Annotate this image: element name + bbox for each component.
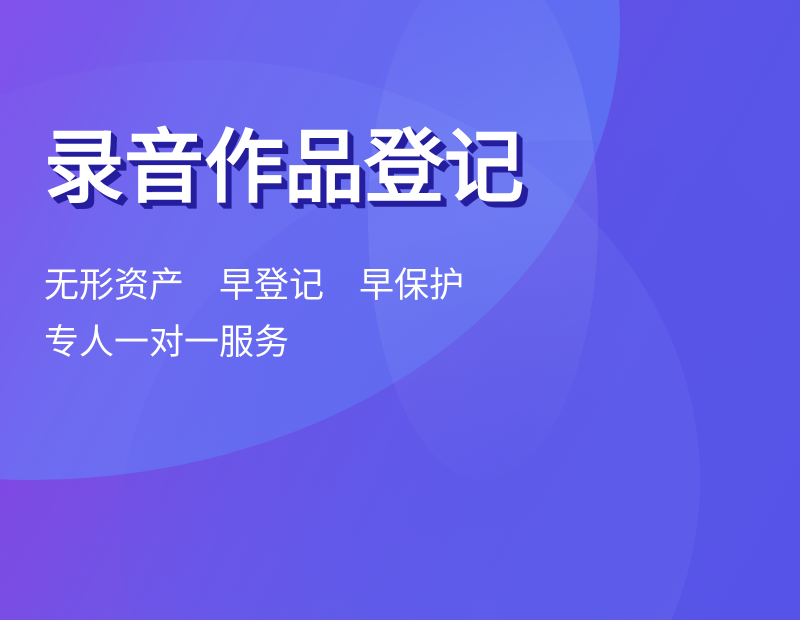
banner-subtitle-line-1: 无形资产 早登记 早保护	[44, 258, 524, 314]
banner-headline: 录音作品登记	[44, 120, 524, 216]
promo-banner: 录音作品登记 无形资产 早登记 早保护 专人一对一服务	[0, 0, 800, 620]
banner-text-block: 录音作品登记 无形资产 早登记 早保护 专人一对一服务	[44, 120, 524, 371]
banner-subtitle-line-2: 专人一对一服务	[44, 315, 524, 371]
